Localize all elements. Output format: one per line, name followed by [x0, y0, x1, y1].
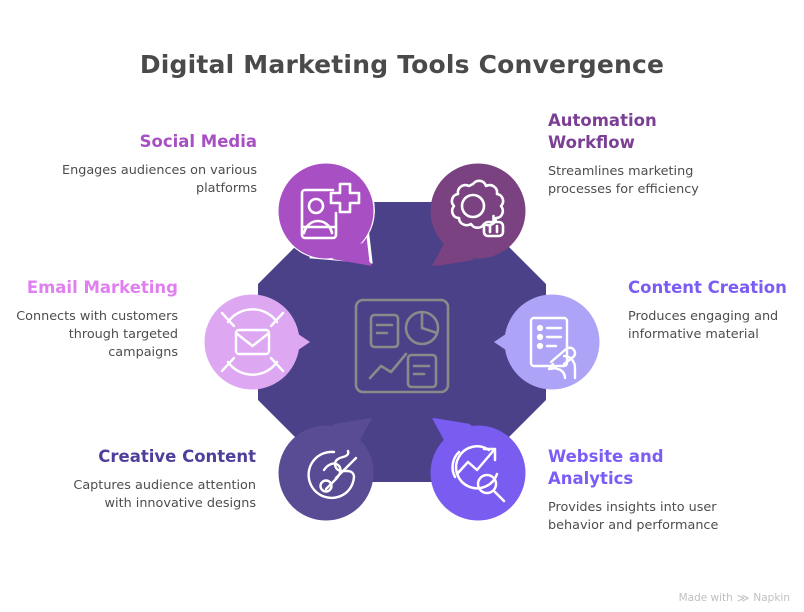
- label-automation-workflow: Automation Workflow Streamlines marketin…: [548, 110, 748, 199]
- label-creative-content: Creative Content Captures audience atten…: [60, 446, 256, 513]
- social-media-heading: Social Media: [57, 131, 257, 153]
- automation-bubble: [431, 164, 526, 259]
- social-media-description: Engages audiences on various platforms: [57, 162, 257, 198]
- creative-content-description: Captures audience attention with innovat…: [60, 477, 256, 513]
- creative-bubble: [279, 426, 374, 521]
- automation-workflow-heading: Automation Workflow: [548, 110, 748, 154]
- label-email-marketing: Email Marketing Connects with customers …: [0, 277, 178, 362]
- content-creation-description: Produces engaging and informative materi…: [628, 308, 804, 344]
- watermark-brand: Napkin: [753, 592, 790, 604]
- creative-content-heading: Creative Content: [60, 446, 256, 468]
- napkin-watermark: Made with ≫ Napkin: [679, 592, 790, 604]
- website-analytics-heading: Website and Analytics: [548, 446, 748, 490]
- label-content-creation: Content Creation Produces engaging and i…: [628, 277, 804, 344]
- email-marketing-heading: Email Marketing: [0, 277, 178, 299]
- content-creation-heading: Content Creation: [628, 277, 804, 299]
- email-marketing-description: Connects with customers through targeted…: [0, 308, 178, 362]
- automation-workflow-description: Streamlines marketing processes for effi…: [548, 163, 748, 199]
- label-social-media: Social Media Engages audiences on variou…: [57, 131, 257, 198]
- infographic-canvas: Digital Marketing Tools Convergence: [0, 0, 804, 612]
- content-bubble: [505, 295, 600, 390]
- website-analytics-description: Provides insights into user behavior and…: [548, 499, 748, 535]
- watermark-prefix: Made with: [679, 592, 733, 604]
- website-bubble: [431, 426, 526, 521]
- label-website-analytics: Website and Analytics Provides insights …: [548, 446, 748, 535]
- napkin-logo-icon: ≫: [737, 592, 750, 604]
